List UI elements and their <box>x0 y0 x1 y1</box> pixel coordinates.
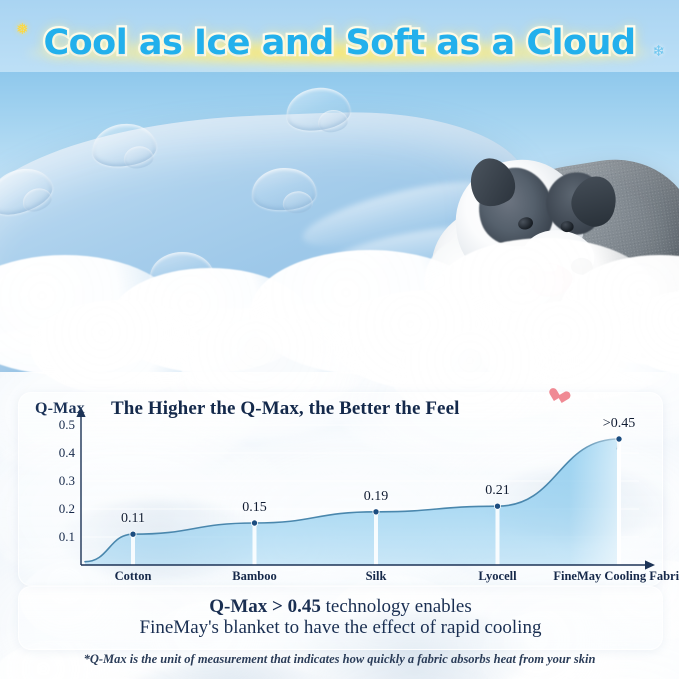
data-point-label: 0.19 <box>364 489 389 505</box>
y-tick-label: 0.2 <box>59 501 75 517</box>
x-tick-label: Lyocell <box>478 569 516 584</box>
x-tick-label: Cotton <box>115 569 152 584</box>
chart-plot-area <box>19 393 662 585</box>
data-point-label: 0.15 <box>242 500 267 516</box>
qmax-chart-panel: Q-Max The Higher the Q-Max, the Better t… <box>18 392 663 586</box>
chart-y-tick-labels: 0.10.20.30.40.5 <box>45 425 75 543</box>
data-point-label: 0.21 <box>485 483 510 499</box>
snowflake-icon-left: ❅ <box>16 22 29 37</box>
chart-x-tick-labels: CottonBambooSilkLyocellFineMay Cooling F… <box>19 569 662 587</box>
data-point-label: 0.11 <box>121 511 145 527</box>
x-tick-label: Bamboo <box>232 569 276 584</box>
statement-bold-claim: Q-Max > 0.45 <box>209 596 321 617</box>
headline-banner: Cool as Ice and Soft as a Cloud <box>0 16 679 76</box>
footnote-text: *Q-Max is the unit of measurement that i… <box>0 652 679 667</box>
statement-line-1-rest: technology enables <box>321 596 472 617</box>
statement-line-1: Q-Max > 0.45 technology enables <box>209 596 472 617</box>
x-tick-label: FineMay Cooling Fabric <box>553 569 679 584</box>
cloud-puff <box>30 300 210 395</box>
x-tick-label: Silk <box>366 569 387 584</box>
statement-line-2: FineMay's blanket to have the effect of … <box>140 617 542 640</box>
y-tick-label: 0.4 <box>59 445 75 461</box>
statement-panel: Q-Max > 0.45 technology enables FineMay'… <box>18 586 663 650</box>
page-title: Cool as Ice and Soft as a Cloud <box>43 16 635 70</box>
data-point-label: >0.45 <box>603 416 635 432</box>
snowflake-icon-right: ❄ <box>652 44 665 59</box>
infographic-root: Cool as Ice and Soft as a Cloud ❅ ❄ <box>0 0 679 679</box>
y-tick-label: 0.1 <box>59 529 75 545</box>
y-tick-label: 0.3 <box>59 473 75 489</box>
y-tick-label: 0.5 <box>59 417 75 433</box>
chart-svg <box>19 393 662 585</box>
